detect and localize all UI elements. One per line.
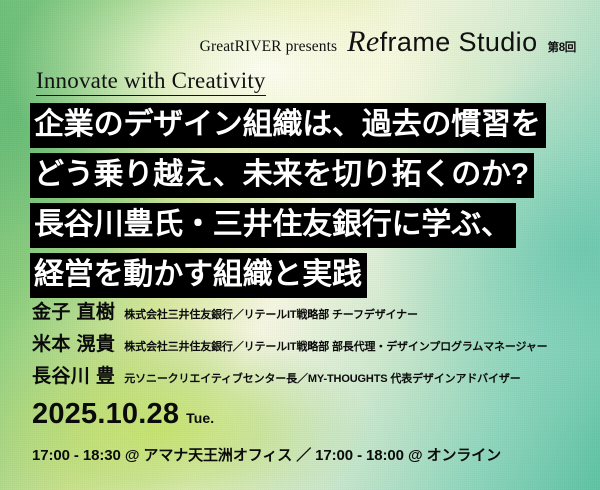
speaker-row: 米本 滉貴 株式会社三井住友銀行／リテールIT戦略部 部長代理・デザインプログラ… — [32, 329, 594, 356]
presenter-label: GreatRIVER presents — [200, 38, 338, 56]
speaker-list: 金子 直樹 株式会社三井住友銀行／リテールIT戦略部 チーフデザイナー 米本 滉… — [32, 297, 594, 393]
headline-line-2: どう乗り越え、未来を切り拓くのか? — [30, 153, 534, 198]
speaker-affiliation: 株式会社三井住友銀行／リテールIT戦略部 チーフデザイナー — [124, 306, 418, 322]
headline-line-4: 経営を動かす組織と実践 — [30, 253, 367, 298]
poster-content: GreatRIVER presents Reframe Studio 第8回 I… — [0, 0, 600, 490]
brand-row: GreatRIVER presents Reframe Studio 第8回 — [200, 27, 576, 57]
headline-line-3: 長谷川豊氏・三井住友銀行に学ぶ、 — [30, 203, 516, 248]
headline-line-1: 企業のデザイン組織は、過去の慣習を — [30, 103, 546, 148]
headline-block: 企業のデザイン組織は、過去の慣習を どう乗り越え、未来を切り拓くのか? 長谷川豊… — [30, 103, 575, 303]
program-title-italic-prefix: Re — [347, 25, 379, 58]
speaker-affiliation: 株式会社三井住友銀行／リテールIT戦略部 部長代理・デザインプログラムマネージャ… — [124, 338, 547, 354]
program-title-rest: frame Studio — [380, 27, 538, 57]
speaker-name: 金子 直樹 — [32, 297, 115, 324]
program-title: Reframe Studio — [347, 27, 537, 57]
edition-badge: 第8回 — [548, 39, 577, 55]
event-date: 2025.10.28 — [32, 400, 179, 429]
speaker-row: 長谷川 豊 元ソニークリエイティブセンター長／MY-THOUGHTS 代表デザイ… — [32, 361, 594, 388]
event-weekday: Tue. — [186, 410, 214, 426]
event-poster: GreatRIVER presents Reframe Studio 第8回 I… — [0, 0, 600, 490]
event-date-row: 2025.10.28 Tue. — [32, 400, 214, 429]
speaker-name: 長谷川 豊 — [32, 361, 115, 388]
tagline: Innovate with Creativity — [36, 68, 266, 96]
speaker-row: 金子 直樹 株式会社三井住友銀行／リテールIT戦略部 チーフデザイナー — [32, 297, 594, 324]
speaker-affiliation: 元ソニークリエイティブセンター長／MY-THOUGHTS 代表デザインアドバイザ… — [124, 370, 520, 386]
speaker-name: 米本 滉貴 — [32, 329, 115, 356]
event-schedule: 17:00 - 18:30 @ アマナ天王洲オフィス ／ 17:00 - 18:… — [32, 444, 501, 465]
